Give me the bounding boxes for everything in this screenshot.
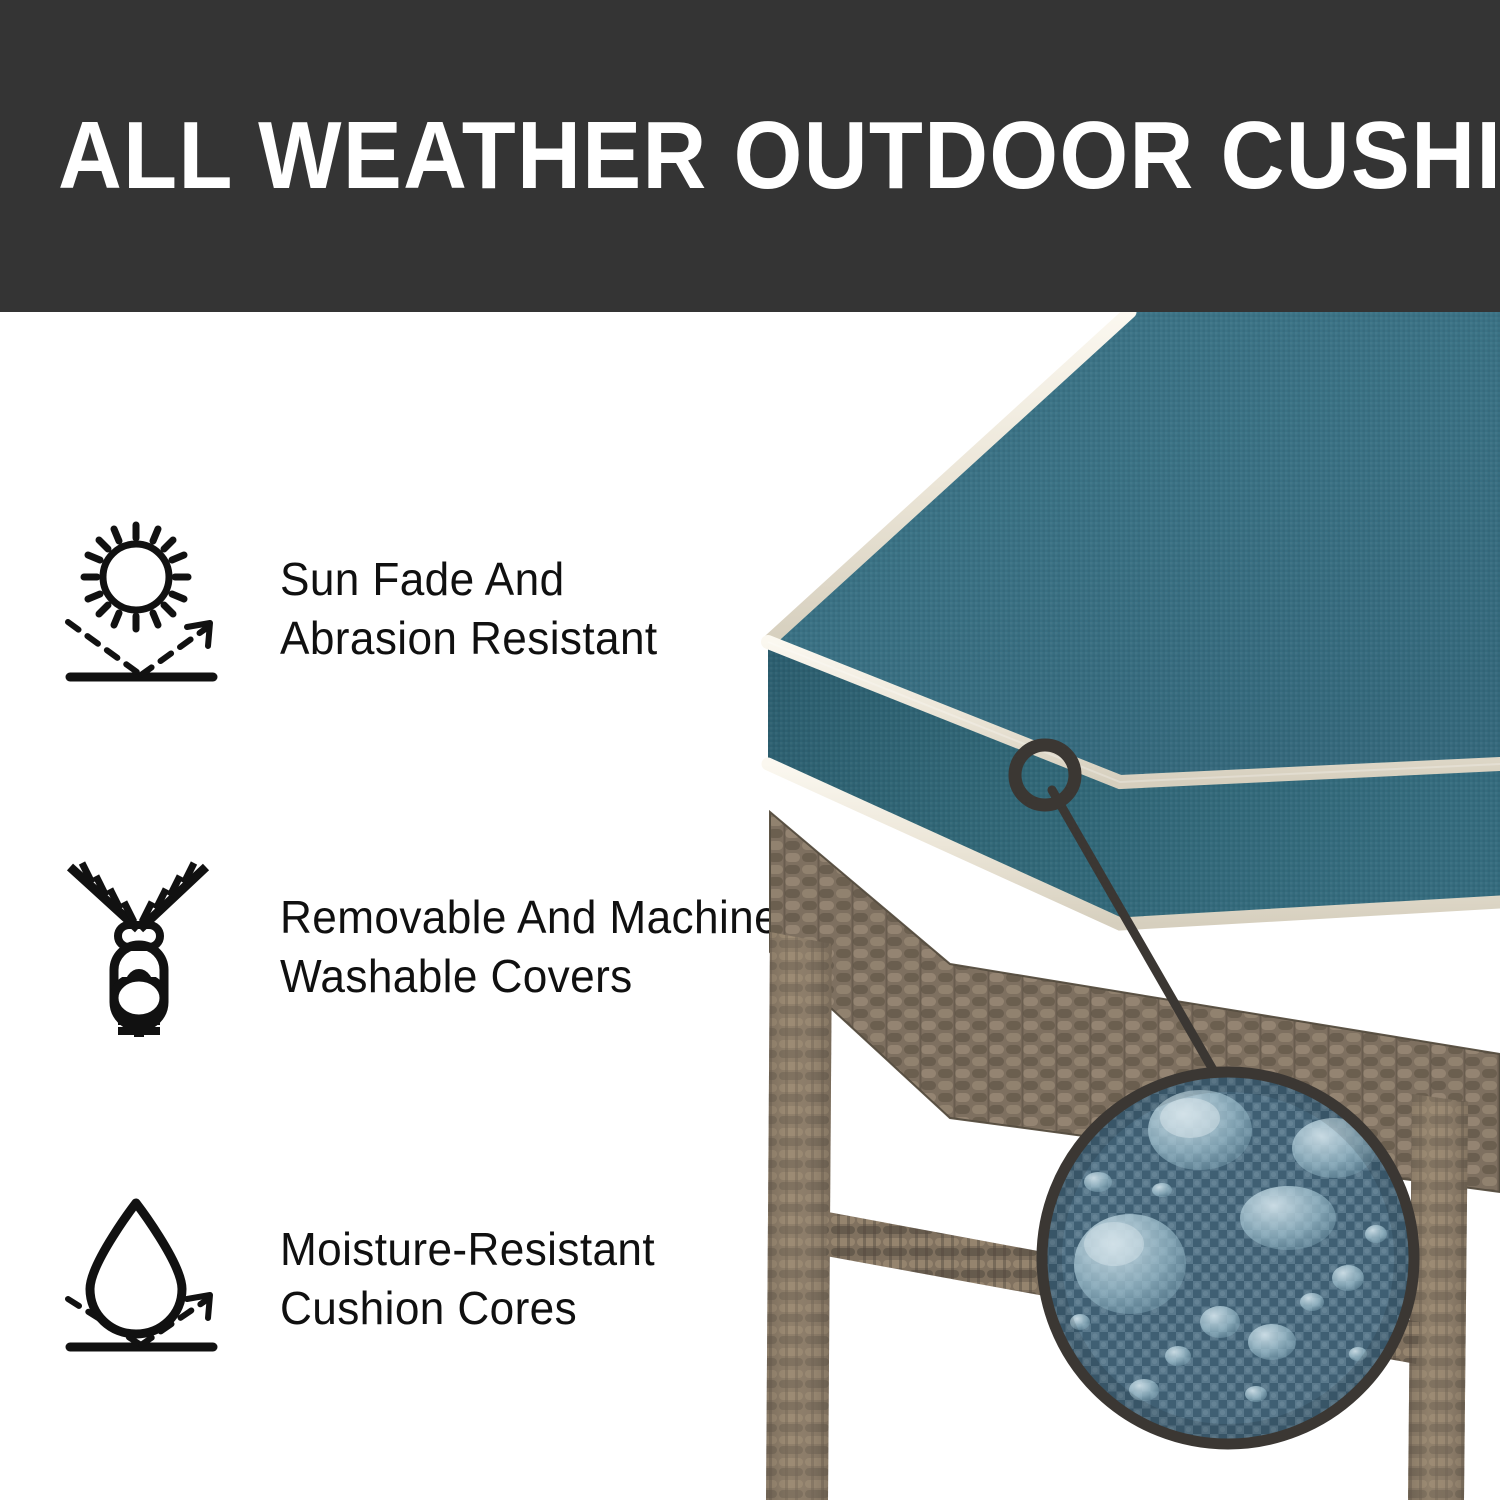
feature-label-line2: Cushion Cores (280, 1279, 655, 1338)
page-title: ALL WEATHER OUTDOOR CUSHIONS (58, 108, 1500, 204)
feature-item-sun-fade: Sun Fade And Abrasion Resistant (0, 504, 700, 714)
feature-label-sun-fade: Sun Fade And Abrasion Resistant (280, 550, 658, 668)
feature-label-moisture: Moisture-Resistant Cushion Cores (280, 1220, 655, 1338)
feature-item-washable: Removable And Machine Washable Covers (0, 842, 700, 1052)
feature-list: Sun Fade And Abrasion Resistant (0, 312, 720, 1500)
feature-label-line2: Abrasion Resistant (280, 609, 658, 668)
product-photo (700, 312, 1500, 1500)
teal-cushion (768, 312, 1500, 924)
feature-label-line1: Moisture-Resistant (280, 1220, 655, 1279)
zipper-icon (58, 857, 258, 1037)
feature-item-moisture: Moisture-Resistant Cushion Cores (0, 1174, 700, 1384)
header-banner: ALL WEATHER OUTDOOR CUSHIONS (0, 0, 1500, 312)
feature-label-line1: Sun Fade And (280, 550, 658, 609)
water-droplet-repel-icon (58, 1189, 258, 1369)
sun-fade-resistant-icon (58, 519, 258, 699)
infographic-canvas: ALL WEATHER OUTDOOR CUSHIONS (0, 0, 1500, 1500)
water-beading-fabric-detail (1042, 1072, 1414, 1444)
